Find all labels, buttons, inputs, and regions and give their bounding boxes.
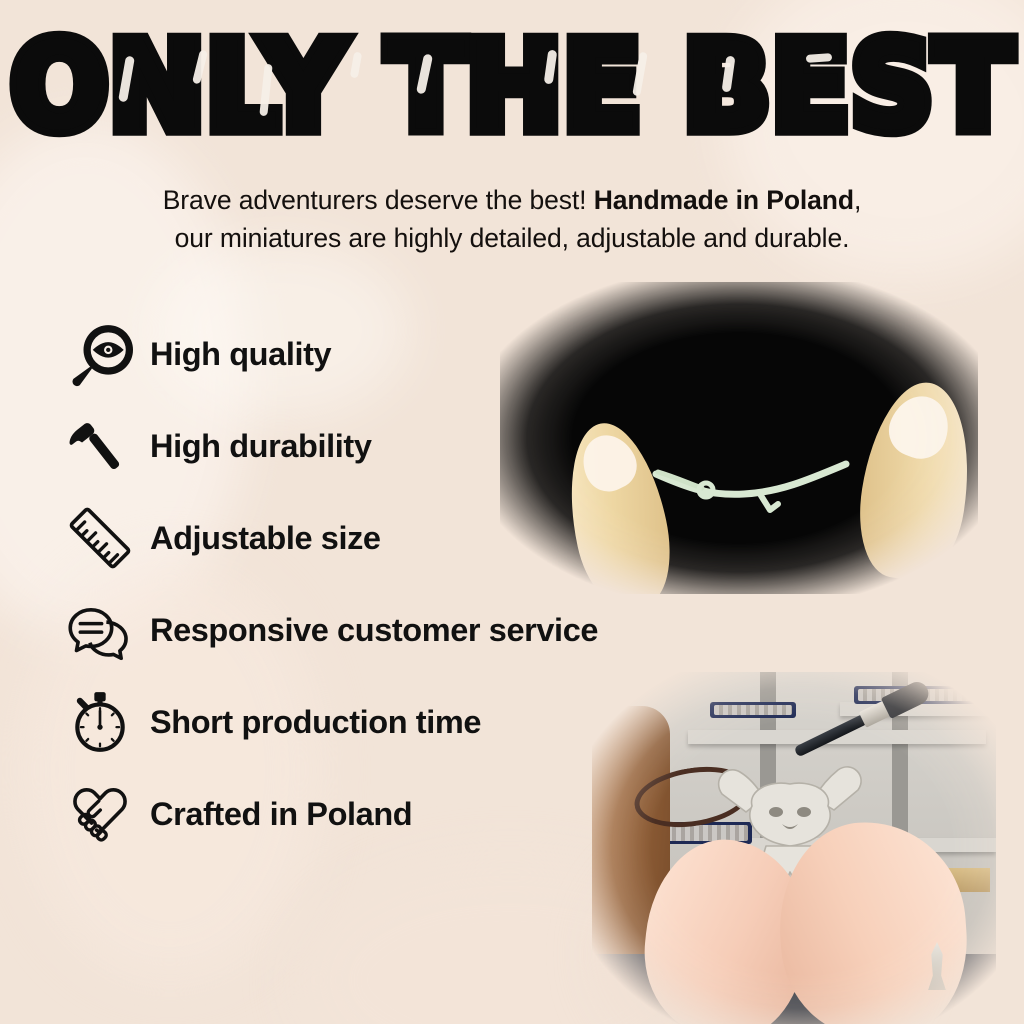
- handshake-heart-icon: [64, 778, 136, 850]
- feature-item-responsive-customer-service: Responsive customer service: [64, 584, 764, 676]
- torn-edge-mask: [500, 282, 978, 594]
- torn-edge-mask: [592, 672, 996, 1024]
- speech-bubbles-icon: [64, 594, 136, 666]
- flexible-miniature-part: [648, 458, 856, 514]
- feature-label: Adjustable size: [150, 520, 381, 557]
- subtitle-line1-prefix: Brave adventurers deserve the best!: [163, 185, 594, 215]
- stopwatch-icon: [64, 686, 136, 758]
- feature-label: High durability: [150, 428, 372, 465]
- feature-label: Short production time: [150, 704, 481, 741]
- miniature-tray: [710, 702, 796, 718]
- feature-label: Crafted in Poland: [150, 796, 412, 833]
- feature-label: Responsive customer service: [150, 612, 598, 649]
- title-container: ONLY THE BEST: [0, 34, 1024, 142]
- subtitle: Brave adventurers deserve the best! Hand…: [60, 182, 964, 257]
- promotional-poster: ONLY THE BEST Brave adventurers deserve …: [0, 0, 1024, 1024]
- page-title: ONLY THE BEST: [11, 28, 1014, 149]
- magnifier-eye-icon: [64, 318, 136, 390]
- workshop-painting-photo: [592, 672, 996, 1024]
- photo-background: [592, 672, 996, 1024]
- feature-label: High quality: [150, 336, 331, 373]
- subtitle-line1-bold: Handmade in Poland: [594, 185, 854, 215]
- subtitle-line1-suffix: ,: [854, 185, 861, 215]
- subtitle-line2: our miniatures are highly detailed, adju…: [175, 223, 850, 253]
- ruler-icon: [64, 502, 136, 574]
- hammer-icon: [64, 410, 136, 482]
- flexible-miniature-photo: [500, 282, 978, 594]
